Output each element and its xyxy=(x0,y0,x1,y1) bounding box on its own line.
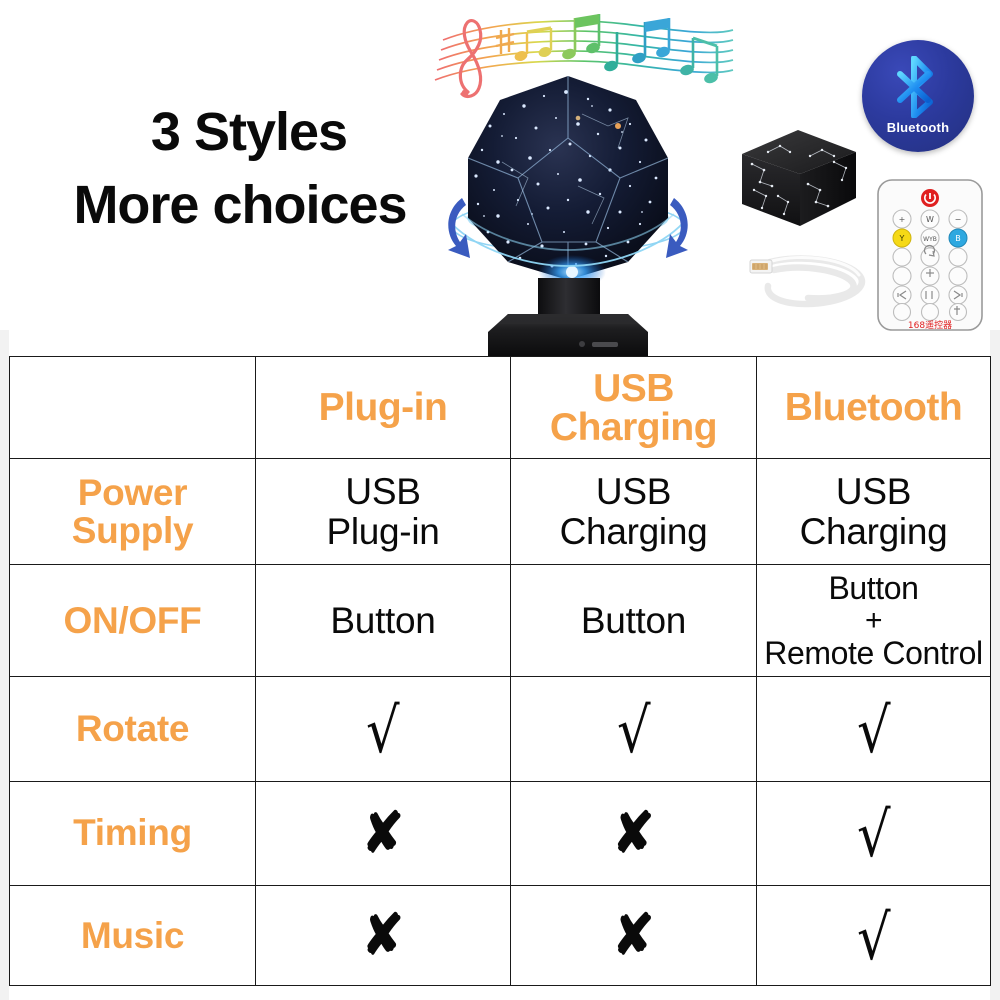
header-usb-charging: USB Charging xyxy=(511,357,757,459)
check-icon: √ xyxy=(857,807,891,863)
star-projector-lamp xyxy=(432,66,704,358)
header-usb-line2: Charging xyxy=(550,406,717,449)
comparison-table: Plug-in USB Charging Bluetooth Power Sup… xyxy=(9,356,991,986)
cell-onoff-plugin: Button xyxy=(256,565,511,677)
cell-onoff-bluetooth: Button + Remote Control xyxy=(757,565,991,677)
cell-rotate-usb: √ xyxy=(511,677,757,781)
table-row-power-supply: Power Supply USB Plug-in USB Charging US… xyxy=(10,459,991,565)
right-margin-strip xyxy=(990,330,1000,1000)
cross-icon: ✘ xyxy=(362,805,404,861)
bluetooth-badge-label: Bluetooth xyxy=(862,120,974,135)
header-usb-line1: USB xyxy=(593,367,674,410)
header-blank-cell xyxy=(10,357,256,459)
cell-power-usb: USB Charging xyxy=(511,459,757,565)
check-icon: √ xyxy=(366,703,400,759)
cell-timing-plugin: ✘ xyxy=(256,781,511,885)
cross-icon: ✘ xyxy=(362,907,404,963)
cell-music-bluetooth: √ xyxy=(757,885,991,985)
page-title: 3 Styles More choices xyxy=(40,96,440,242)
svg-text:B: B xyxy=(955,234,961,243)
headline-line-2: More choices xyxy=(40,169,440,242)
cell-music-plugin: ✘ xyxy=(256,885,511,985)
row-label-onoff: ON/OFF xyxy=(10,565,256,677)
row-label-timing: Timing xyxy=(10,781,256,885)
header-plugin: Plug-in xyxy=(256,357,511,459)
svg-text:−: − xyxy=(955,215,962,224)
svg-text:W: W xyxy=(926,215,934,224)
cell-timing-usb: ✘ xyxy=(511,781,757,885)
check-icon: √ xyxy=(617,703,651,759)
constellation-gift-box xyxy=(738,126,860,238)
row-label-line1: Power xyxy=(78,472,188,513)
svg-text:Y: Y xyxy=(899,234,905,243)
check-icon: √ xyxy=(857,910,891,966)
table-header-row: Plug-in USB Charging Bluetooth xyxy=(10,357,991,459)
product-comparison-image: 3 Styles More choices xyxy=(0,0,1000,1000)
row-label-power-supply: Power Supply xyxy=(10,459,256,565)
row-label-rotate: Rotate xyxy=(10,677,256,781)
svg-text:+: + xyxy=(899,215,906,224)
row-label-music: Music xyxy=(10,885,256,985)
table-row-onoff: ON/OFF Button Button Button + Remote Con… xyxy=(10,565,991,677)
cell-rotate-plugin: √ xyxy=(256,677,511,781)
cross-icon: ✘ xyxy=(613,907,655,963)
cell-music-usb: ✘ xyxy=(511,885,757,985)
cell-power-plugin: USB Plug-in xyxy=(256,459,511,565)
bluetooth-badge: Bluetooth xyxy=(862,40,974,152)
headline-line-1: 3 Styles xyxy=(40,96,440,169)
remote-model-label: 168遥控器 xyxy=(908,319,952,331)
cell-timing-bluetooth: √ xyxy=(757,781,991,885)
table-row-rotate: Rotate √ √ √ xyxy=(10,677,991,781)
check-icon: √ xyxy=(857,703,891,759)
header-bluetooth: Bluetooth xyxy=(757,357,991,459)
left-margin-strip xyxy=(0,330,9,1000)
usb-cable xyxy=(744,246,874,318)
table-row-music: Music ✘ ✘ √ xyxy=(10,885,991,985)
row-label-line2: Supply xyxy=(72,510,194,551)
cross-icon: ✘ xyxy=(613,805,655,861)
svg-text:WYB: WYB xyxy=(923,236,937,243)
bluetooth-icon xyxy=(894,56,942,118)
table-row-timing: Timing ✘ ✘ √ xyxy=(10,781,991,885)
cell-onoff-usb: Button xyxy=(511,565,757,677)
remote-control: +W− YWYB B 168遥控器 xyxy=(874,176,986,334)
cell-rotate-bluetooth: √ xyxy=(757,677,991,781)
cell-power-bluetooth: USB Charging xyxy=(757,459,991,565)
